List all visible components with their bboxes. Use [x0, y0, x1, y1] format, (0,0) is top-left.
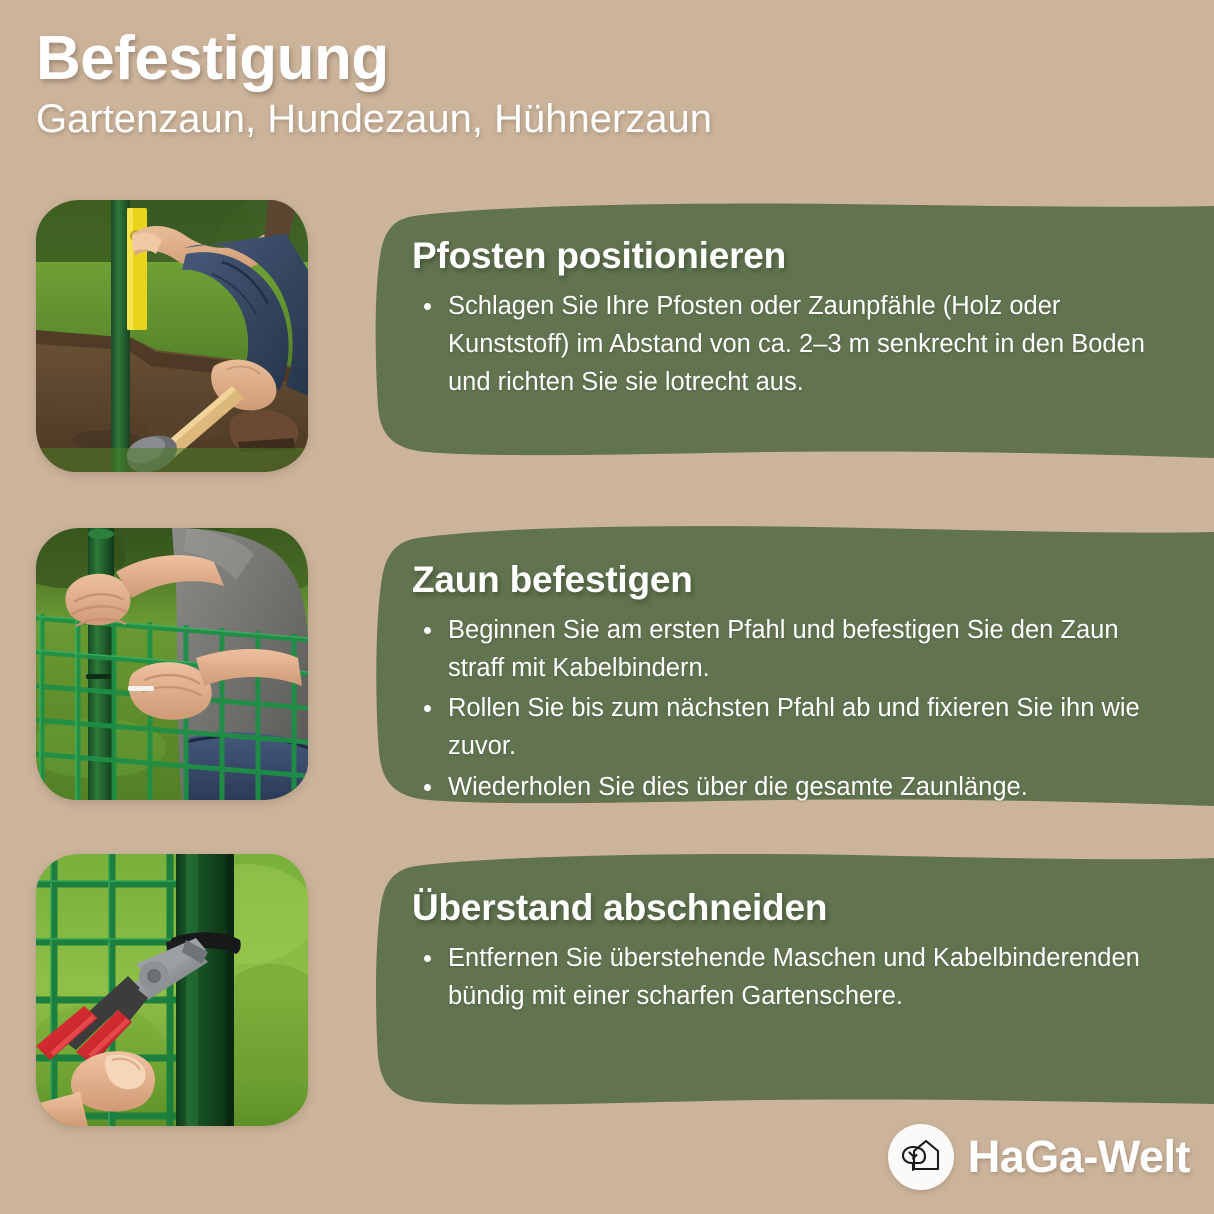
- infographic-canvas: Befestigung Gartenzaun, Hundezaun, Hühne…: [0, 0, 1214, 1214]
- page-title: Befestigung: [36, 26, 1036, 91]
- logo-text: HaGa-Welt: [968, 1131, 1190, 1183]
- bullet-item: Schlagen Sie Ihre Pfosten oder Zaunpfähl…: [412, 287, 1180, 402]
- bullet-item: Rollen Sie bis zum nächsten Pfahl ab und…: [412, 689, 1180, 766]
- step-row-2: Zaun befestigen Beginnen Sie am ersten P…: [0, 524, 1214, 816]
- logo-mark: [888, 1124, 954, 1190]
- step-bullets-1: Schlagen Sie Ihre Pfosten oder Zaunpfähl…: [412, 287, 1180, 402]
- step-heading-1: Pfosten positionieren: [412, 236, 1180, 277]
- photo-cutting-cable-tie: [36, 854, 308, 1126]
- step-photo-2: [36, 528, 308, 800]
- step-photo-3: [36, 854, 308, 1126]
- header: Befestigung Gartenzaun, Hundezaun, Hühne…: [36, 26, 1036, 141]
- bullet-item: Beginnen Sie am ersten Pfahl und befesti…: [412, 611, 1180, 688]
- step-heading-3: Überstand abschneiden: [412, 888, 1180, 929]
- step-heading-2: Zaun befestigen: [412, 560, 1180, 601]
- step-bullets-2: Beginnen Sie am ersten Pfahl und befesti…: [412, 611, 1180, 806]
- brand-logo[interactable]: HaGa-Welt: [888, 1124, 1190, 1190]
- step-panel-1: Pfosten positionieren Schlagen Sie Ihre …: [370, 200, 1214, 464]
- photo-fence-attaching: [36, 528, 308, 800]
- step-panel-3: Überstand abschneiden Entfernen Sie über…: [370, 852, 1214, 1114]
- step-bullets-3: Entfernen Sie überstehende Maschen und K…: [412, 939, 1180, 1016]
- step-photo-1: [36, 200, 308, 472]
- step-row-1: Pfosten positionieren Schlagen Sie Ihre …: [0, 196, 1214, 484]
- photo-post-leveling: [36, 200, 308, 472]
- page-subtitle: Gartenzaun, Hundezaun, Hühnerzaun: [36, 97, 1036, 141]
- step-panel-2: Zaun befestigen Beginnen Sie am ersten P…: [370, 524, 1214, 812]
- step-row-3: Überstand abschneiden Entfernen Sie über…: [0, 850, 1214, 1142]
- house-with-tree-icon: [899, 1137, 943, 1177]
- bullet-item: Wiederholen Sie dies über die gesamte Za…: [412, 768, 1180, 806]
- bullet-item: Entfernen Sie überstehende Maschen und K…: [412, 939, 1180, 1016]
